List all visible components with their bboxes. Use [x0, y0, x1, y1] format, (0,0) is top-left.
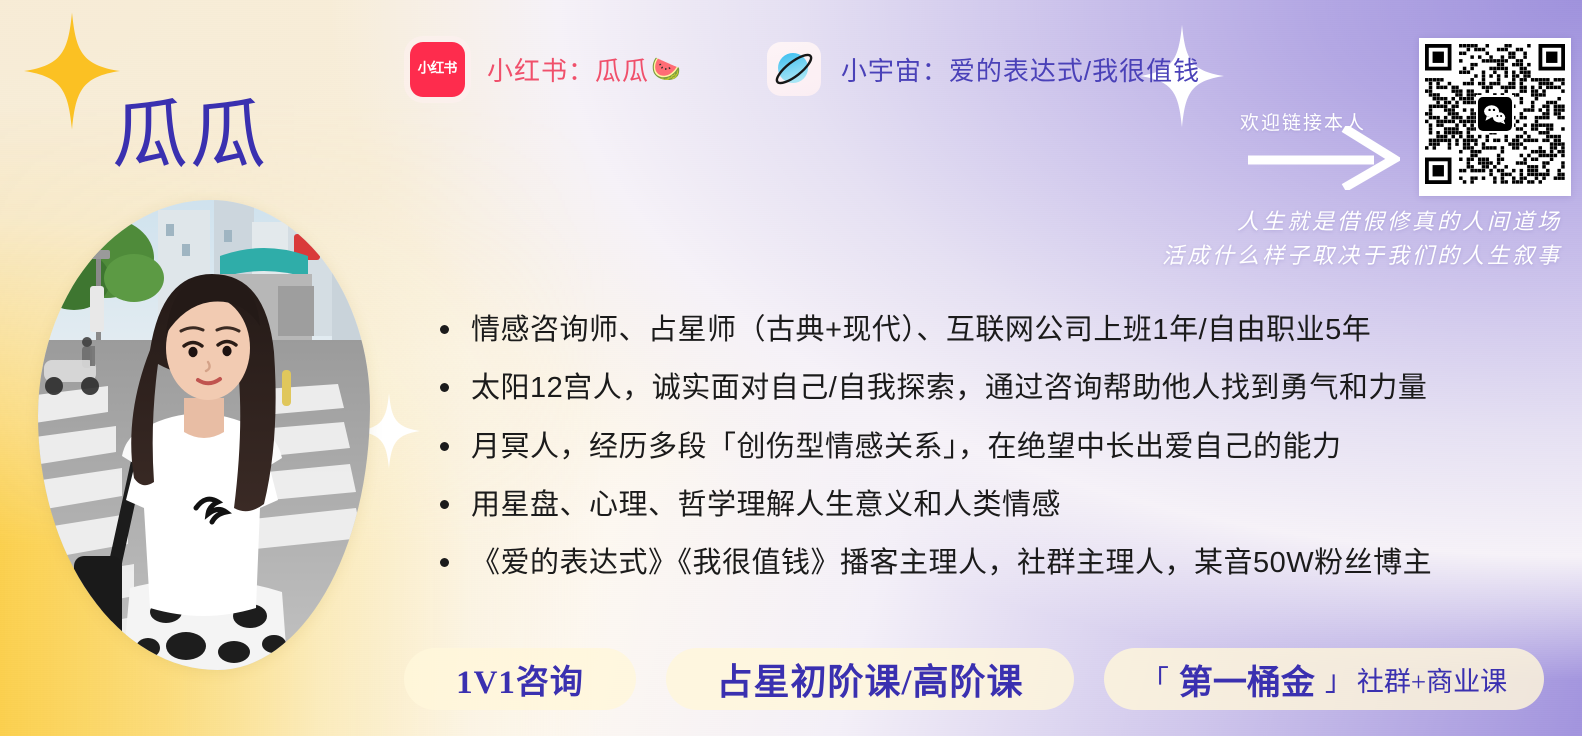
pill-3-tail-label: 社群+商业课 — [1357, 660, 1507, 699]
arrow-right-icon — [1248, 126, 1400, 190]
slogan-line-2: 活成什么样子取决于我们的人生叙事 — [1162, 239, 1562, 273]
pill-2-label: 占星初阶课/高阶课 — [716, 653, 1023, 705]
social-links: 小红书 小红书：瓜瓜 🍉 小宇宙：爱的表达式/我很值钱 — [410, 40, 1200, 98]
watermelon-emoji-icon: 🍉 — [651, 55, 681, 84]
wechat-qr-code[interactable] — [1419, 38, 1571, 196]
bullet-dot-icon — [440, 500, 449, 509]
avatar-photo — [38, 200, 370, 670]
slogan: 人生就是借假修真的人间道场 活成什么样子取决于我们的人生叙事 — [1162, 205, 1562, 273]
social-podcast[interactable]: 小宇宙：爱的表达式/我很值钱 — [767, 42, 1200, 96]
xiaohongshu-handle: 小红书：瓜瓜 — [487, 51, 649, 88]
pill-1-label: 1V1咨询 — [456, 655, 584, 703]
planet-icon — [767, 42, 821, 96]
bullet-dot-icon — [440, 558, 449, 567]
photo-illustration — [38, 200, 370, 670]
list-item: 太阳12宫人，诚实面对自己/自我探索，通过咨询帮助他人找到勇气和力量 — [440, 370, 1500, 406]
pill-astrology-course[interactable]: 占星初阶课/高阶课 — [666, 648, 1074, 710]
list-item: 情感咨询师、占星师（古典+现代）、互联网公司上班1年/自由职业5年 — [440, 312, 1500, 348]
avatar — [38, 200, 370, 670]
bullet-text: 情感咨询师、占星师（古典+现代）、互联网公司上班1年/自由职业5年 — [471, 312, 1371, 348]
pill-first-bucket-community[interactable]: 「 第一桶金 」 社群+商业课 — [1104, 648, 1544, 710]
pill-3-open-bracket: 「 — [1141, 659, 1169, 699]
bullet-dot-icon — [440, 383, 449, 392]
pill-1v1-consult[interactable]: 1V1咨询 — [404, 648, 636, 710]
bullet-dot-icon — [440, 325, 449, 334]
list-item: 用星盘、心理、哲学理解人生意义和人类情感 — [440, 487, 1500, 523]
list-item: 月冥人，经历多段「创伤型情感关系」，在绝望中长出爱自己的能力 — [440, 429, 1500, 465]
xiaohongshu-logo-text: 小红书 — [418, 62, 457, 76]
service-pills: 1V1咨询 占星初阶课/高阶课 「 第一桶金 」 社群+商业课 — [404, 648, 1544, 710]
social-xiaohongshu[interactable]: 小红书 小红书：瓜瓜 🍉 — [410, 42, 681, 97]
page-title: 瓜瓜 — [112, 98, 268, 174]
profile-card: 瓜瓜 — [0, 0, 1582, 736]
xiaohongshu-logo-icon: 小红书 — [410, 42, 465, 97]
pill-3-close-bracket: 」 — [1325, 659, 1353, 699]
slogan-line-1: 人生就是借假修真的人间道场 — [1162, 205, 1562, 239]
bullet-dot-icon — [440, 442, 449, 451]
bullet-text: 用星盘、心理、哲学理解人生意义和人类情感 — [471, 487, 1061, 523]
podcast-handle: 小宇宙：爱的表达式/我很值钱 — [841, 51, 1200, 88]
bullet-text: 太阳12宫人，诚实面对自己/自我探索，通过咨询帮助他人找到勇气和力量 — [471, 370, 1427, 406]
bullet-text: 《爱的表达式》《我很值钱》播客主理人，社群主理人，某音50W粉丝博主 — [471, 545, 1432, 581]
list-item: 《爱的表达式》《我很值钱》播客主理人，社群主理人，某音50W粉丝博主 — [440, 545, 1500, 581]
bullet-text: 月冥人，经历多段「创伤型情感关系」，在绝望中长出爱自己的能力 — [471, 429, 1342, 465]
bio-bullet-list: 情感咨询师、占星师（古典+现代）、互联网公司上班1年/自由职业5年 太阳12宫人… — [440, 312, 1500, 603]
qr-canvas — [1425, 44, 1565, 190]
pill-3-main-label: 第一桶金 — [1179, 655, 1315, 704]
